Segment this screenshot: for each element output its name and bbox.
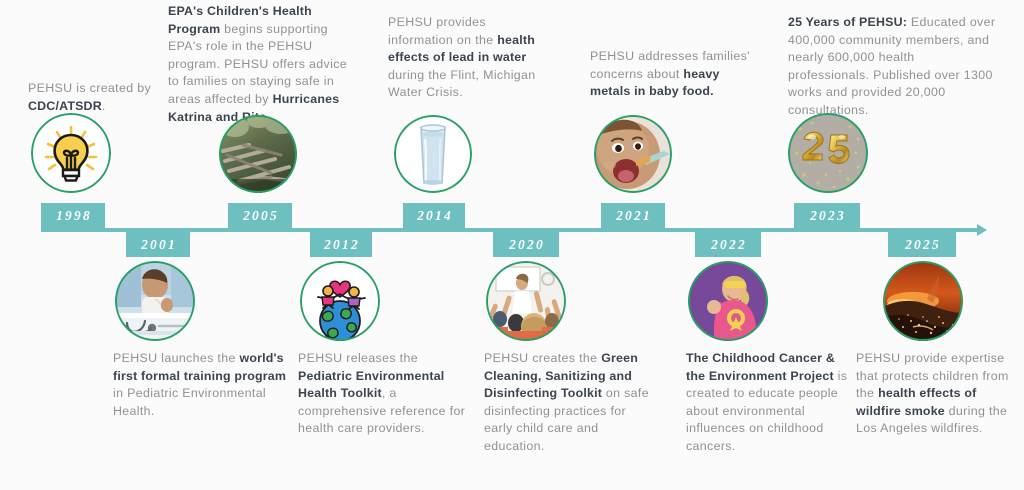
body-text: PEHSU creates the [484,351,601,365]
event-text-2020: PEHSU creates the Green Cleaning, Saniti… [484,350,656,456]
body-text: in Pediatric Environmental Health. [113,386,266,418]
year-box-2025[interactable]: 2025 [888,232,956,257]
event-text-2023: 25 Years of PEHSU: Educated over 400,000… [788,14,998,120]
circle-media-2021 [594,115,672,193]
event-text-2025: PEHSU provide expertise that protects ch… [856,350,1018,438]
event-text-2005: EPA's Children's Health Program begins s… [168,3,348,126]
circle-media-2023 [788,113,868,193]
circle-media-2012 [300,261,380,341]
body-text: PEHSU addresses families' concerns about [590,49,750,81]
emphasis-text: 25 Years of PEHSU: [788,15,907,29]
year-label: 2025 [903,237,941,253]
children-globe-heart-illustration [300,261,380,341]
hurricane-debris-photo [219,115,297,193]
year-label: 1998 [54,208,92,224]
circle-media-2025 [883,261,963,341]
year-label: 2022 [709,237,747,253]
circle-media-2001 [115,261,195,341]
year-box-2014[interactable]: 2014 [403,203,465,228]
emphasis-text: Pediatric Environmental Health Toolkit [298,369,444,401]
year-label: 2001 [139,237,177,253]
year-label: 2014 [415,208,453,224]
circle-media-2022 [688,261,768,341]
wildfire-photo [883,261,963,341]
event-text-1998: PEHSU is created by CDC/ATSDR. [28,80,178,115]
body-text: Educated over 400,000 community members,… [788,15,995,117]
body-text: PEHSU provides information on the [388,15,497,47]
body-text: PEHSU launches the [113,351,240,365]
year-box-2012[interactable]: 2012 [310,232,372,257]
year-box-2020[interactable]: 2020 [493,232,559,257]
year-label: 2012 [322,237,360,253]
year-box-1998[interactable]: 1998 [41,203,105,228]
timeline-infographic: PEHSU is created by CDC/ATSDR. EPA's Chi… [0,0,1024,490]
glass-of-water-illustration [394,115,472,193]
year-label: 2020 [507,237,545,253]
year-label: 2005 [241,208,279,224]
balloons-25-photo [788,113,868,193]
body-text: PEHSU releases the [298,351,418,365]
event-text-2022: The Childhood Cancer & the Environment P… [686,350,851,456]
emphasis-text: The Childhood Cancer & the Environment P… [686,351,835,383]
timeline-arrow-icon [977,224,987,236]
baby-eating-photo [594,115,672,193]
child-superhero-ribbon-photo [688,261,768,341]
circle-media-2014 [394,115,472,193]
event-text-2012: PEHSU releases the Pediatric Environment… [298,350,470,438]
circle-media-2005 [219,115,297,193]
year-box-2021[interactable]: 2021 [601,203,665,228]
event-text-2001: PEHSU launches the world's first formal … [113,350,288,420]
event-text-2021: PEHSU addresses families' concerns about… [590,48,750,101]
lightbulb-icon [31,113,111,193]
clinic-visit-photo [115,261,195,341]
year-box-2022[interactable]: 2022 [695,232,761,257]
event-text-2014: PEHSU provides information on the health… [388,14,538,102]
body-text: PEHSU is created by [28,81,151,95]
circle-media-1998 [31,113,111,193]
year-box-2023[interactable]: 2023 [794,203,860,228]
year-box-2005[interactable]: 2005 [228,203,292,228]
body-text: . [102,99,106,113]
body-text: during the Flint, Michigan Water Crisis. [388,68,536,100]
emphasis-text: CDC/ATSDR [28,99,102,113]
year-label: 2021 [614,208,652,224]
year-label: 2023 [808,208,846,224]
classroom-photo [486,261,566,341]
circle-media-2020 [486,261,566,341]
year-box-2001[interactable]: 2001 [126,232,190,257]
